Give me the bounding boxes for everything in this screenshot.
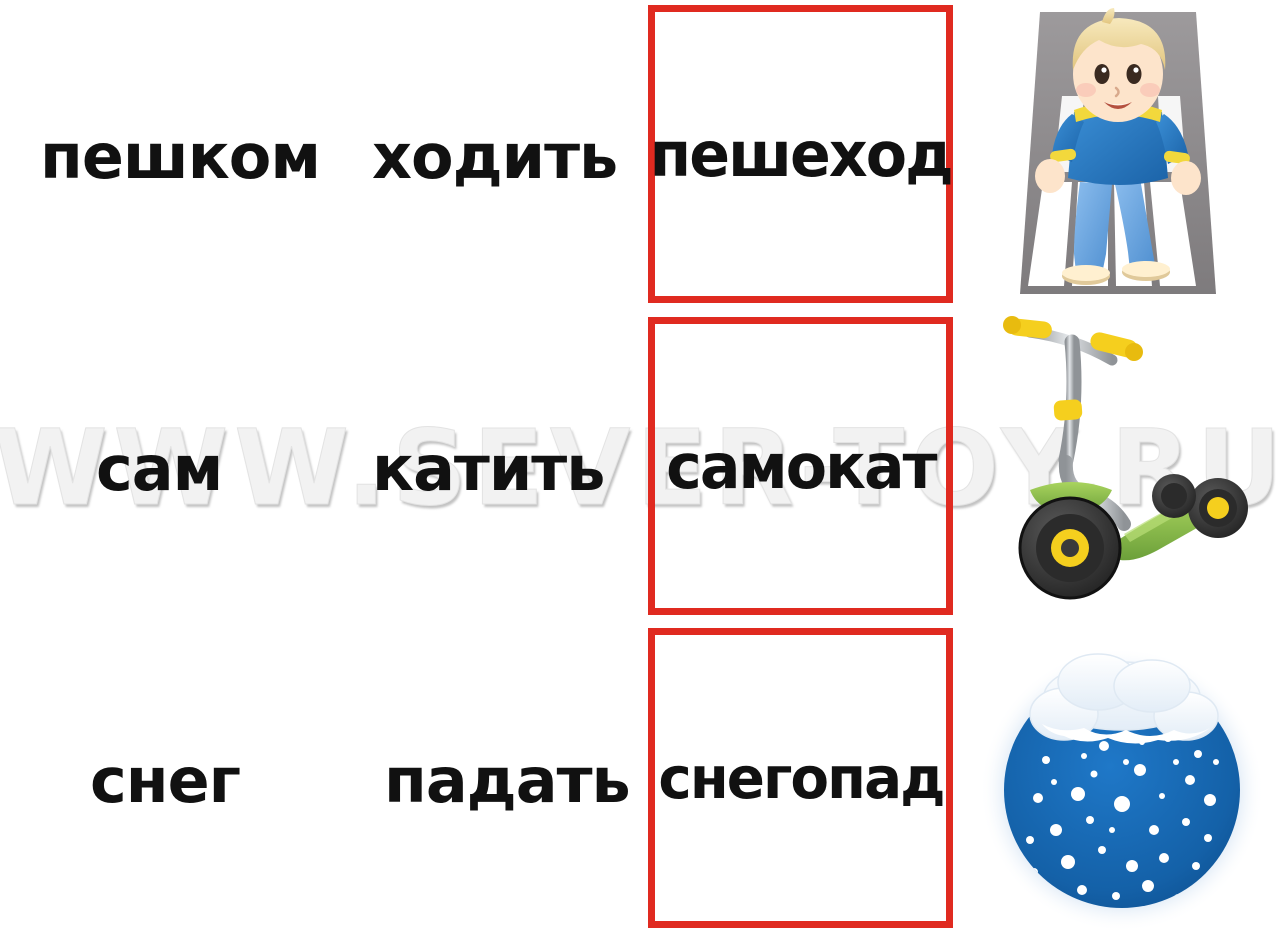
compound-word-1: пешеход [649, 118, 951, 191]
base-word-1: пешком [40, 0, 340, 312]
base-word-2: сам [96, 312, 396, 624]
compound-word-2: самокат [666, 430, 935, 503]
pedestrian-crosswalk-illustration [968, 4, 1268, 304]
snowfall-illustration [972, 634, 1272, 934]
compound-word-worksheet: WWW.SEVER-TOY.RU пешком ходить пешеход [0, 0, 1280, 936]
compound-word-box-3[interactable]: снегопад [648, 628, 953, 928]
compound-word-3: снегопад [658, 744, 943, 812]
kick-scooter-illustration [972, 312, 1272, 612]
word-row: сам катить самокат [0, 312, 1280, 624]
base-word-3: снег [90, 624, 390, 936]
verb-word-3: падать [384, 624, 634, 936]
compound-word-box-2[interactable]: самокат [648, 317, 953, 615]
verb-word-2: катить [372, 312, 622, 624]
word-row: пешком ходить пешеход [0, 0, 1280, 312]
word-row: снег падать снегопад [0, 624, 1280, 936]
compound-word-box-1[interactable]: пешеход [648, 5, 953, 303]
verb-word-1: ходить [372, 0, 622, 312]
